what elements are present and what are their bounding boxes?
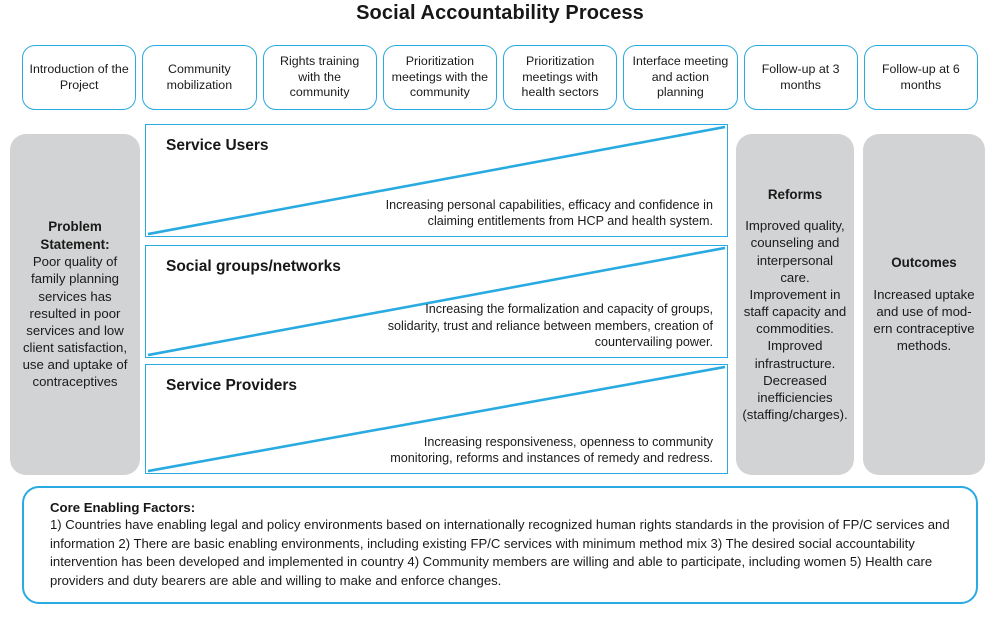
- core-enabling-factors-box: Core Enabling Factors: 1) Countries have…: [22, 486, 978, 604]
- actor-label: Service Providers: [166, 377, 297, 395]
- outcomes-box: Outcomes Increased uptake and use of mod…: [863, 134, 985, 475]
- outcomes-title: Outcomes: [891, 254, 956, 271]
- reforms-title: Reforms: [768, 186, 822, 203]
- actor-description: Increasing responsiveness, openness to c…: [383, 434, 713, 467]
- process-step-label: Prioritization meetings with the communi…: [388, 54, 492, 101]
- process-step-label: Interface meeting and action planning: [628, 54, 732, 101]
- process-step-label: Rights training with the community: [268, 54, 372, 101]
- page-title: Social Accountability Process: [0, 2, 1000, 25]
- actor-panel-social-groups: Social groups/networks Increasing the fo…: [145, 245, 728, 358]
- actor-panel-service-users: Service Users Increasing personal capabi…: [145, 124, 728, 237]
- reforms-box: Reforms Improved quality, counseling and…: [736, 134, 854, 475]
- actor-description: Increasing personal capabilities, effica…: [383, 197, 713, 230]
- problem-statement-box: Problem Statement: Poor quality of famil…: [10, 134, 140, 475]
- actor-panel-service-providers: Service Providers Increasing responsiven…: [145, 364, 728, 474]
- actor-label: Social groups/networks: [166, 258, 341, 276]
- process-step-label: Follow-up at 3 months: [749, 62, 853, 93]
- process-step-label: Follow-up at 6 months: [869, 62, 973, 93]
- process-step-label: Introduction of the Project: [27, 62, 131, 93]
- problem-statement-body: Poor quality of family planning services…: [18, 253, 132, 390]
- core-enabling-factors-body: 1) Countries have enabling legal and pol…: [50, 516, 954, 590]
- process-step-1[interactable]: Introduction of the Project: [22, 45, 136, 110]
- process-steps-row: Introduction of the Project Community mo…: [22, 45, 978, 110]
- actor-label: Service Users: [166, 137, 269, 155]
- process-step-2[interactable]: Community mobilization: [142, 45, 256, 110]
- problem-statement-title: Problem Statement:: [18, 218, 132, 253]
- process-step-7[interactable]: Follow-up at 3 months: [744, 45, 858, 110]
- middle-band: Problem Statement: Poor quality of famil…: [0, 132, 1000, 477]
- reforms-body: Improved quality, counseling and interpe…: [742, 217, 847, 423]
- process-step-4[interactable]: Prioritization meetings with the communi…: [383, 45, 497, 110]
- process-step-label: Community mobilization: [147, 62, 251, 93]
- process-step-5[interactable]: Prioritization meetings with health sect…: [503, 45, 617, 110]
- actor-description: Increasing the formalization and capacit…: [383, 301, 713, 351]
- process-step-8[interactable]: Follow-up at 6 months: [864, 45, 978, 110]
- process-step-3[interactable]: Rights training with the community: [263, 45, 377, 110]
- outcomes-body: Increased uptake and use of mod-ern cont…: [871, 286, 977, 355]
- process-step-label: Prioritization meetings with health sect…: [508, 54, 612, 101]
- core-enabling-factors-title: Core Enabling Factors:: [50, 500, 954, 515]
- process-step-6[interactable]: Interface meeting and action planning: [623, 45, 737, 110]
